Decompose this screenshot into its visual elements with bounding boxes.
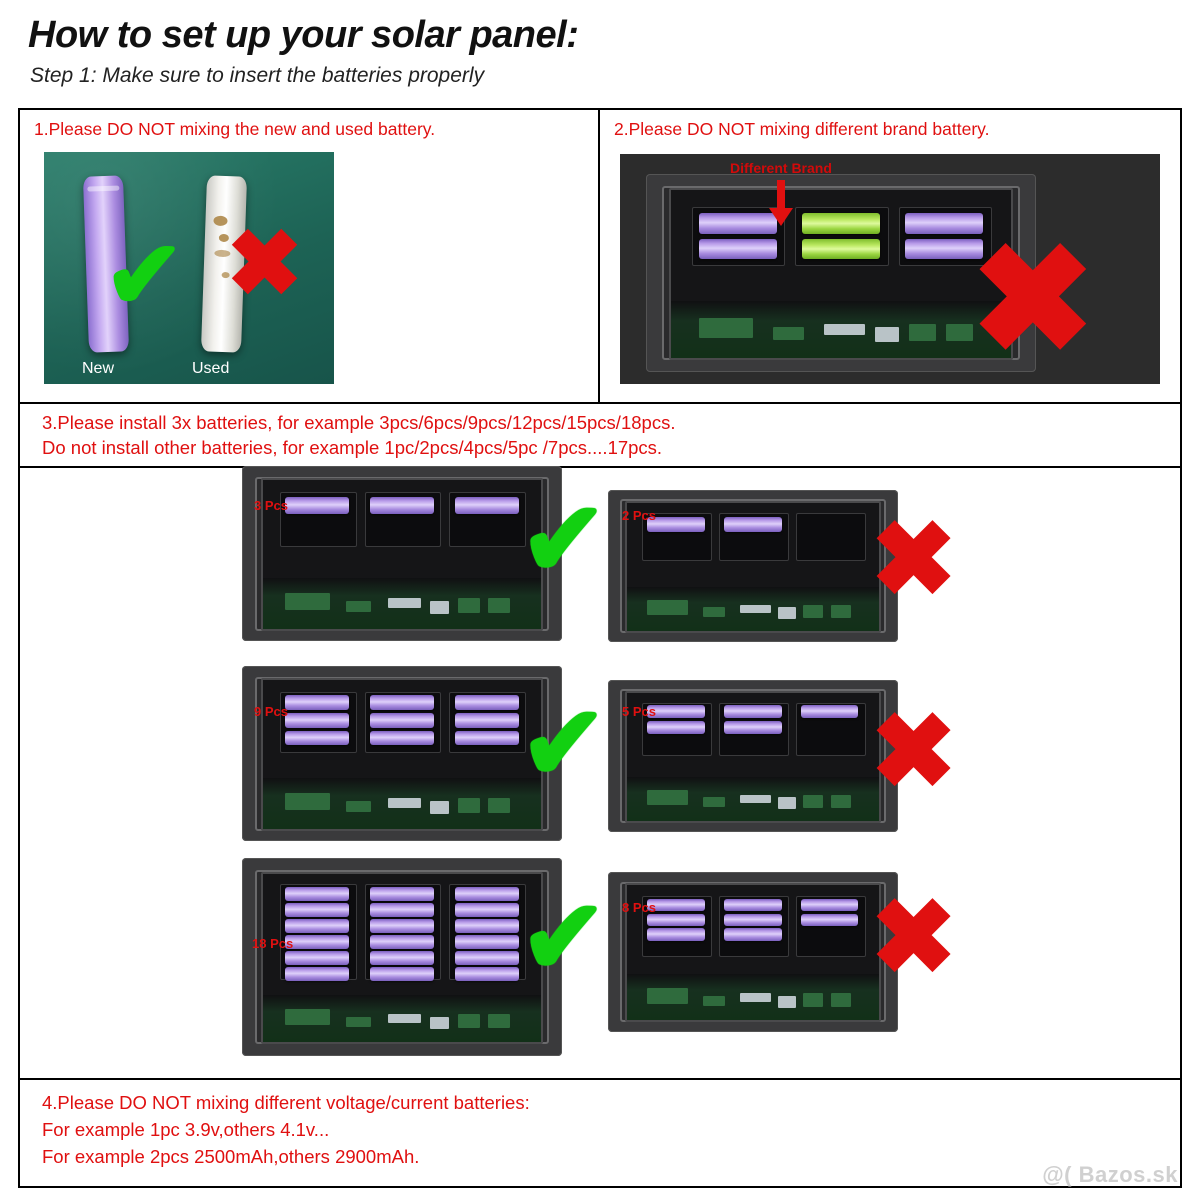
example-label: 9 Pcs [254, 704, 288, 719]
note-2-text: 2.Please DO NOT mixing different brand b… [600, 110, 1180, 140]
photo-new-vs-used: ✔ ✖ New Used [44, 152, 334, 384]
example-label: 8 Pcs [622, 900, 656, 915]
example-item: 9 Pcs [242, 666, 562, 841]
label-new: New [82, 360, 114, 378]
table-row: 3 Pcs [20, 468, 1180, 1078]
cross-icon: ✖ [870, 700, 957, 804]
photo-different-brand: Different Brand [620, 154, 1160, 384]
examples-grid: 3 Pcs [20, 468, 1180, 1078]
cross-icon: ✖ [970, 224, 1096, 374]
cross-icon: ✖ [870, 508, 957, 612]
different-brand-label: Different Brand [730, 160, 832, 176]
check-icon: ✔ [520, 886, 607, 990]
example-item: 18 Pcs [242, 858, 562, 1056]
battery-panel [608, 680, 898, 832]
note-3-block: 3.Please install 3x batteries, for examp… [20, 404, 1180, 460]
cross-icon: ✖ [226, 218, 303, 310]
cell-note-1: 1.Please DO NOT mixing the new and used … [20, 110, 600, 402]
watermark: @( Bazos.sk [1042, 1162, 1178, 1188]
example-item: 3 Pcs [242, 466, 562, 641]
check-icon: ✔ [520, 692, 607, 796]
example-item: 8 Pcs [608, 872, 898, 1032]
note-4-block: 4.Please DO NOT mixing different voltage… [20, 1080, 1180, 1170]
example-label: 5 Pcs [622, 704, 656, 719]
cell-note-3: 3.Please install 3x batteries, for examp… [20, 404, 1180, 466]
example-item: 5 Pcs [608, 680, 898, 832]
instruction-table: 1.Please DO NOT mixing the new and used … [18, 108, 1182, 1188]
battery-panel [242, 466, 562, 641]
battery-panel [242, 666, 562, 841]
example-label: 3 Pcs [254, 498, 288, 513]
note-3-line-2: Do not install other batteries, for exam… [42, 435, 1180, 460]
example-label: 2 Pcs [622, 508, 656, 523]
cross-icon: ✖ [870, 886, 957, 990]
label-used: Used [192, 360, 229, 378]
note-4-line-1: 4.Please DO NOT mixing different voltage… [42, 1089, 1180, 1116]
cell-note-2: 2.Please DO NOT mixing different brand b… [600, 110, 1180, 402]
example-item: 2 Pcs [608, 490, 898, 642]
example-label: 18 Pcs [252, 936, 293, 951]
note-1-text: 1.Please DO NOT mixing the new and used … [20, 110, 598, 140]
cell-note-4: 4.Please DO NOT mixing different voltage… [20, 1080, 1180, 1188]
page-title: How to set up your solar panel: [28, 14, 578, 57]
table-row: 1.Please DO NOT mixing the new and used … [20, 110, 1180, 402]
check-icon: ✔ [520, 488, 607, 592]
table-row: 4.Please DO NOT mixing different voltage… [20, 1078, 1180, 1188]
note-4-line-2: For example 1pc 3.9v,others 4.1v... [42, 1116, 1180, 1143]
battery-panel [242, 858, 562, 1056]
infographic-page: How to set up your solar panel: Step 1: … [0, 0, 1200, 1200]
check-icon: ✔ [104, 228, 200, 324]
battery-panel [608, 872, 898, 1032]
note-4-line-3: For example 2pcs 2500mAh,others 2900mAh. [42, 1143, 1180, 1170]
note-3-line-1: 3.Please install 3x batteries, for examp… [42, 410, 1180, 435]
cell-examples-grid: 3 Pcs [20, 468, 1180, 1078]
page-subtitle: Step 1: Make sure to insert the batterie… [30, 64, 484, 88]
table-row: 3.Please install 3x batteries, for examp… [20, 402, 1180, 468]
